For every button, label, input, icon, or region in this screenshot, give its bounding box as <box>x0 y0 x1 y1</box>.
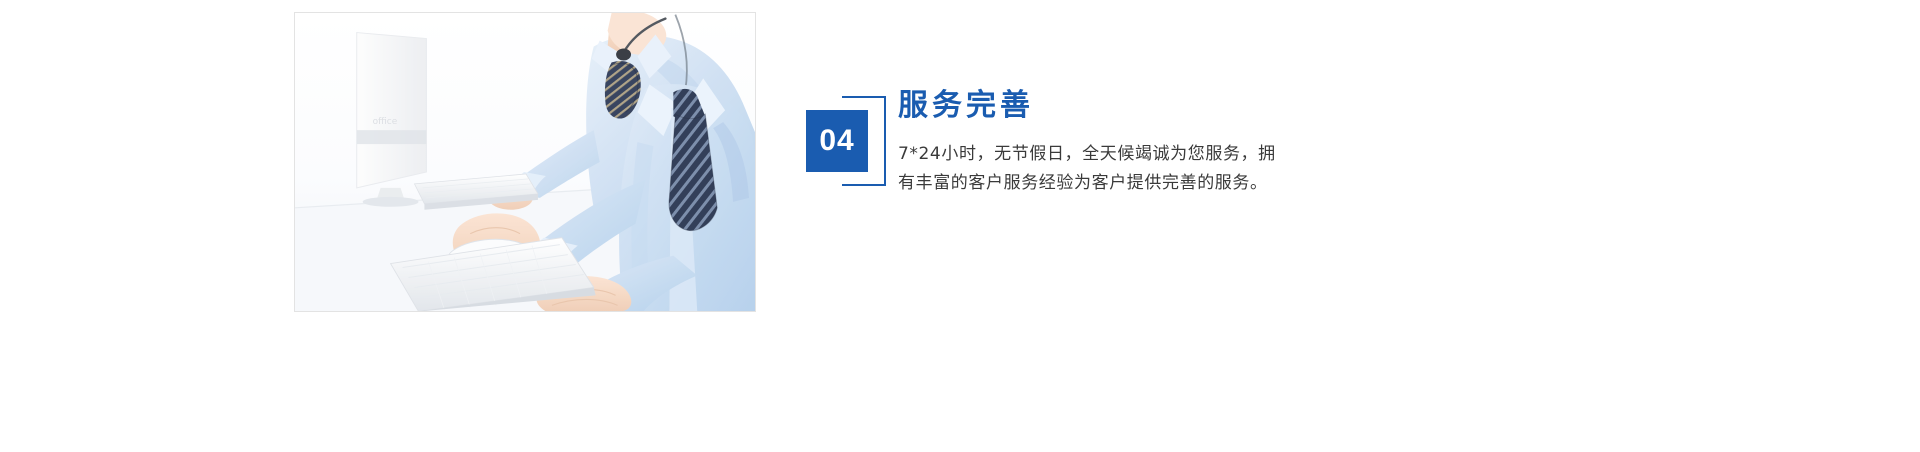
call-center-agents-typing-photo: office <box>294 12 756 312</box>
feature-text-block: 04 服务完善 7*24小时，无节假日，全天候竭诚为您服务，拥有丰富的客户服务经… <box>806 88 1506 268</box>
badge-number: 04 <box>819 126 854 156</box>
step-badge: 04 <box>806 96 888 188</box>
service-feature-banner: office <box>0 0 1920 452</box>
feature-heading: 服务完善 <box>898 88 1498 124</box>
feature-copy: 服务完善 7*24小时，无节假日，全天候竭诚为您服务，拥有丰富的客户服务经验为客… <box>898 88 1498 198</box>
feature-description: 7*24小时，无节假日，全天候竭诚为您服务，拥有丰富的客户服务经验为客户提供完善… <box>898 140 1290 198</box>
badge-square: 04 <box>806 110 868 172</box>
